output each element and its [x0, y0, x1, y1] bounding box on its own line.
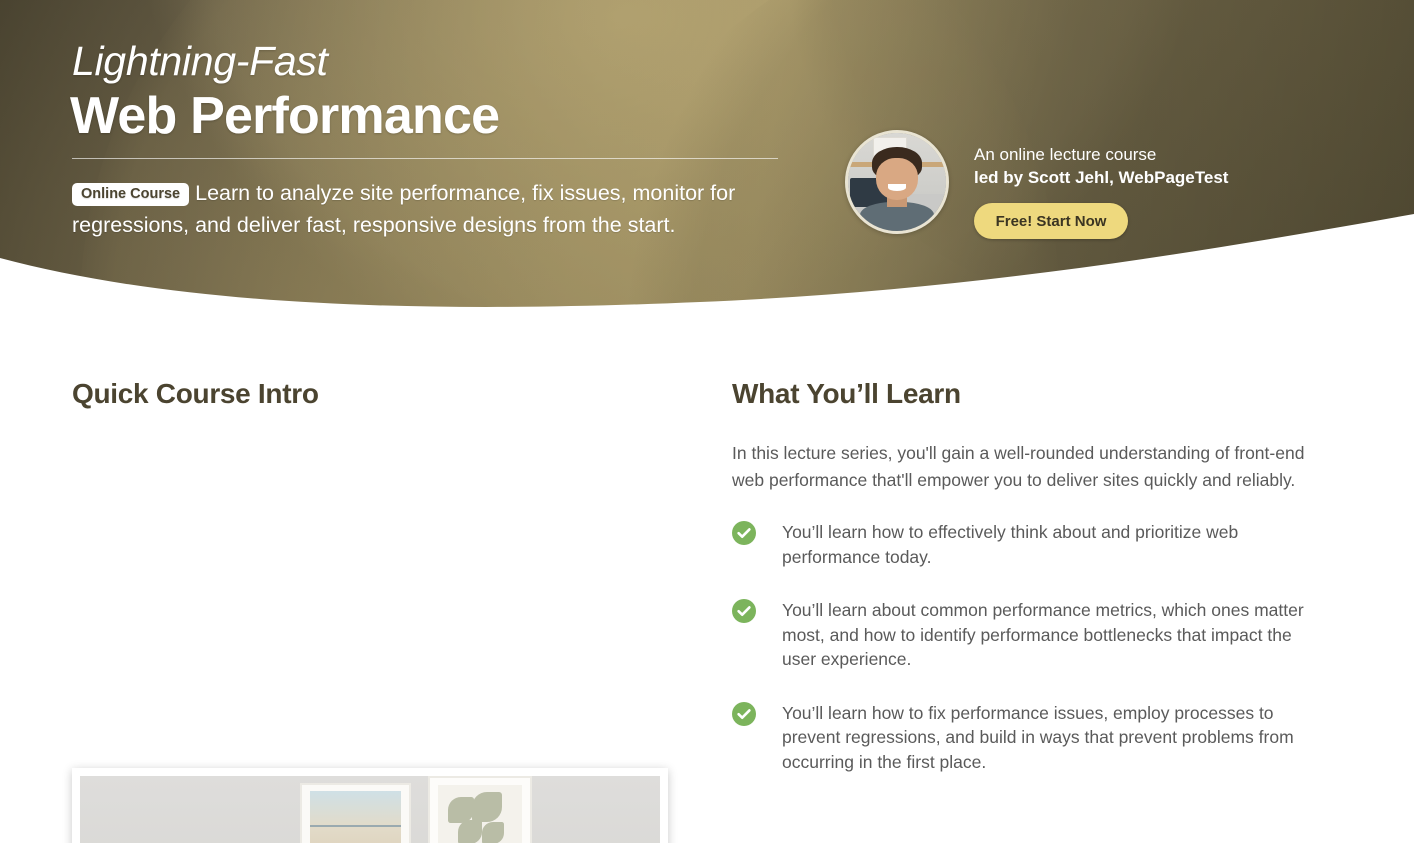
list-item-text: You’ll learn how to effectively think ab…: [782, 520, 1310, 569]
main-content: Quick Course Intro What You’ll Learn In …: [0, 330, 1414, 843]
learn-list: You’ll learn how to effectively think ab…: [732, 520, 1332, 774]
check-circle-icon: [732, 702, 756, 726]
avatar-photo: [848, 133, 946, 231]
hero-description: Online CourseLearn to analyze site perfo…: [72, 177, 772, 241]
online-course-badge: Online Course: [72, 183, 189, 206]
list-item: You’ll learn about common performance me…: [732, 598, 1332, 672]
learn-lead-paragraph: In this lecture series, you'll gain a we…: [732, 440, 1330, 494]
presenter-line-1: An online lecture course: [974, 143, 1228, 166]
presenter-line-2: led by Scott Jehl, WebPageTest: [974, 166, 1228, 189]
avatar: [845, 130, 949, 234]
hero-banner: Lightning-Fast Web Performance Online Co…: [0, 0, 1414, 330]
quick-course-intro-section: Quick Course Intro: [72, 378, 672, 410]
hero-kicker: Lightning-Fast: [72, 40, 328, 83]
page-root: Lightning-Fast Web Performance Online Co…: [0, 0, 1414, 843]
quick-course-intro-title: Quick Course Intro: [72, 378, 672, 410]
check-circle-icon: [732, 521, 756, 545]
list-item-text: You’ll learn how to fix performance issu…: [782, 701, 1310, 775]
video-player-frame[interactable]: 01:56 CC: [72, 768, 668, 843]
hero-content: Lightning-Fast Web Performance Online Co…: [0, 0, 1414, 330]
hero-headline: Web Performance: [70, 88, 499, 145]
video-player[interactable]: 01:56 CC: [80, 776, 660, 843]
hero-divider: [72, 158, 778, 159]
what-you-will-learn-title: What You’ll Learn: [732, 378, 1332, 410]
wall-art-palms: [428, 776, 532, 843]
presenter-info: An online lecture course led by Scott Je…: [974, 143, 1228, 189]
start-now-button[interactable]: Free! Start Now: [974, 203, 1128, 239]
wall-art-beach: [300, 783, 410, 843]
what-you-will-learn-section: What You’ll Learn In this lecture series…: [732, 378, 1332, 803]
list-item: You’ll learn how to fix performance issu…: [732, 701, 1332, 775]
check-circle-icon: [732, 599, 756, 623]
list-item-text: You’ll learn about common performance me…: [782, 598, 1310, 672]
list-item: You’ll learn how to effectively think ab…: [732, 520, 1332, 569]
